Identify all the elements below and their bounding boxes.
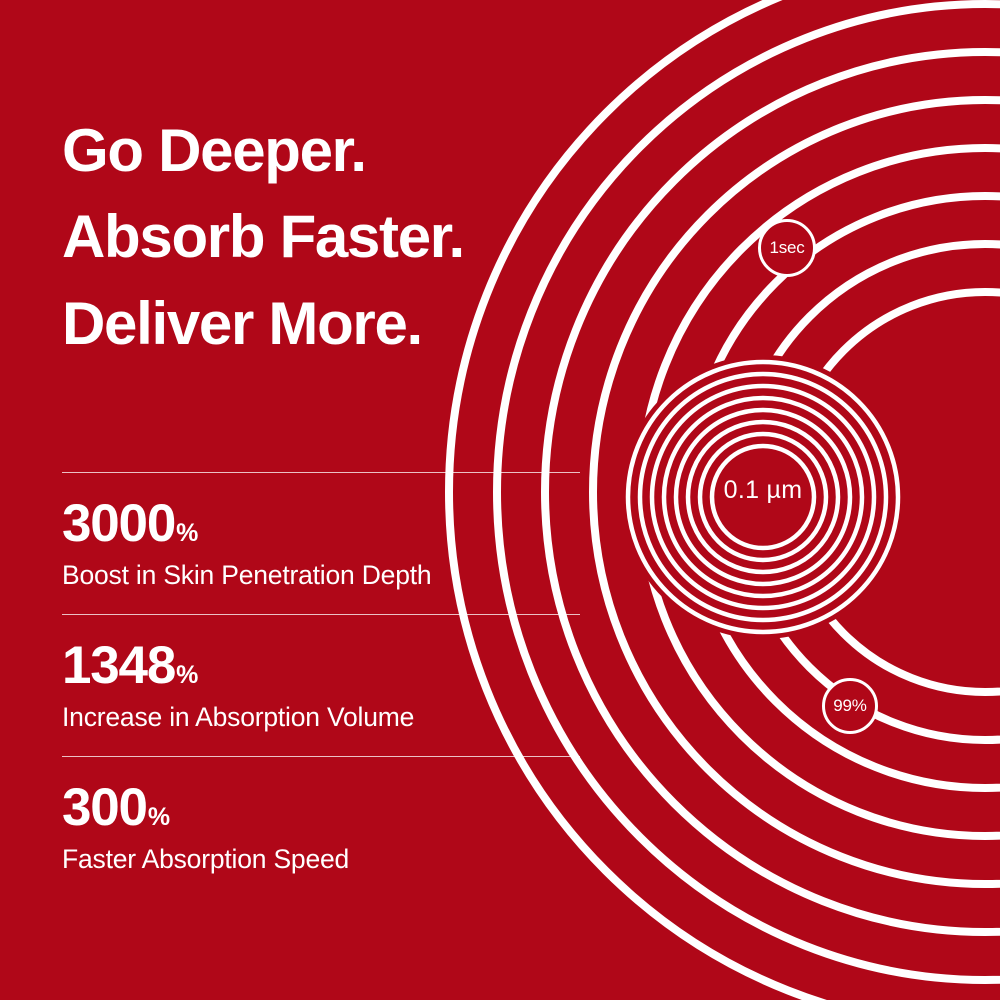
headline-line-3: Deliver More.: [62, 281, 682, 367]
stat-value-unit: %: [147, 803, 170, 831]
stat-row: 3000% Boost in Skin Penetration Depth: [62, 472, 580, 614]
stat-value-number: 3000: [62, 494, 175, 553]
headline-line-2: Absorb Faster.: [62, 194, 682, 280]
badge-99-percent: 99%: [822, 678, 878, 734]
stat-value: 1348%: [62, 639, 580, 693]
rings-center-label: 0.1 µm: [663, 476, 863, 505]
badge-1sec: 1sec: [758, 219, 816, 277]
stat-value-unit: %: [175, 661, 198, 689]
stat-value: 300%: [62, 781, 580, 835]
stat-value-number: 1348: [62, 636, 175, 695]
headline: Go Deeper. Absorb Faster. Deliver More.: [62, 108, 682, 367]
stat-row: 300% Faster Absorption Speed: [62, 756, 580, 898]
stat-value-unit: %: [175, 519, 198, 547]
stat-body: 300% Faster Absorption Speed: [62, 757, 580, 898]
stat-label: Boost in Skin Penetration Depth: [62, 560, 580, 592]
stat-value: 3000%: [62, 497, 580, 551]
stat-label: Faster Absorption Speed: [62, 844, 580, 876]
stat-body: 3000% Boost in Skin Penetration Depth: [62, 473, 580, 614]
stat-row: 1348% Increase in Absorption Volume: [62, 614, 580, 756]
stat-label: Increase in Absorption Volume: [62, 702, 580, 734]
promo-banner: 0.1 µm 1sec 99% Go Deeper. Absorb Faster…: [0, 0, 1000, 1000]
stat-value-number: 300: [62, 778, 147, 837]
headline-line-1: Go Deeper.: [62, 108, 682, 194]
stats-list: 3000% Boost in Skin Penetration Depth 13…: [62, 472, 580, 898]
stat-body: 1348% Increase in Absorption Volume: [62, 615, 580, 756]
